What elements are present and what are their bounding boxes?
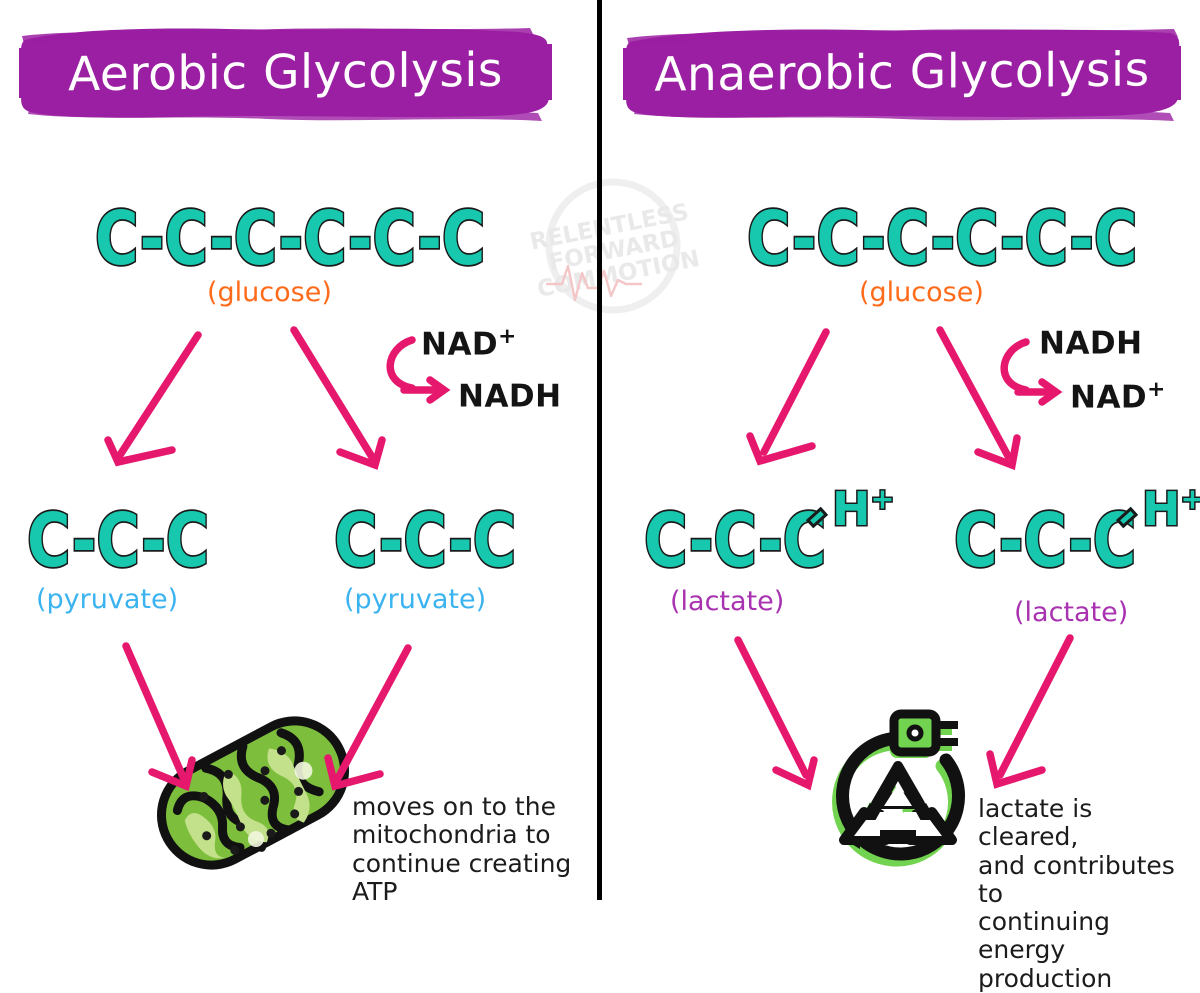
- cofactor-from-sup-aerobic: +: [498, 324, 517, 349]
- adduct-sup-1: +: [871, 483, 895, 516]
- cofactor-to-sup-anaerobic: +: [1147, 377, 1166, 402]
- molecule-lactate-2: C-C-C: [954, 498, 1136, 584]
- recycle-plug-icon: [808, 700, 988, 875]
- label-glucose-anaerobic: (glucose): [859, 277, 984, 308]
- mitochondria-icon: [148, 713, 358, 873]
- molecule-lactate-1: C-C-C: [644, 498, 826, 584]
- molecule-pyruvate-1: C-C-C: [27, 498, 209, 584]
- title-banner-anaerobic: Anaerobic Glycolysis: [622, 18, 1182, 126]
- cofactor-from-label-aerobic: NAD: [421, 326, 498, 362]
- cofactor-to-label-anaerobic: NAD: [1070, 379, 1147, 415]
- label-lactate-2: (lactate): [1014, 597, 1128, 628]
- molecule-glucose-anaerobic: C-C-C-C-C-C: [747, 196, 1137, 282]
- molecule-pyruvate-2: C-C-C: [334, 498, 516, 584]
- label-pyruvate-1: (pyruvate): [36, 584, 178, 615]
- molecule-glucose-aerobic: C-C-C-C-C-C: [95, 196, 485, 282]
- panel-divider: [597, 0, 602, 900]
- label-lactate-1: (lactate): [670, 586, 784, 617]
- cofactor-to-aerobic: NADH: [458, 376, 562, 414]
- cofactor-to-label-aerobic: NADH: [458, 378, 562, 414]
- cofactor-to-anaerobic: NAD+: [1070, 377, 1166, 415]
- panel-anaerobic: Anaerobic Glycolysis C-C-C-C-C-C (glucos…: [602, 0, 1200, 900]
- cofactor-from-aerobic: NAD+: [421, 324, 517, 362]
- caption-anaerobic: lactate is cleared, and contributes to c…: [978, 795, 1200, 993]
- title-text-anaerobic: Anaerobic Glycolysis: [622, 15, 1182, 129]
- title-text-aerobic: Aerobic Glycolysis: [18, 15, 553, 129]
- adduct-hplus-lactate-2: H+: [1142, 482, 1200, 536]
- adduct-h-1: H: [832, 482, 871, 536]
- cofactor-from-label-anaerobic: NADH: [1039, 325, 1143, 361]
- title-banner-aerobic: Aerobic Glycolysis: [18, 18, 553, 126]
- cofactor-from-anaerobic: NADH: [1039, 323, 1143, 361]
- label-glucose-aerobic: (glucose): [207, 277, 332, 308]
- label-pyruvate-2: (pyruvate): [344, 584, 486, 615]
- caption-aerobic: moves on to the mitochondria to continue…: [352, 793, 598, 906]
- adduct-sup-2: +: [1181, 483, 1200, 516]
- infographic-canvas: RELENTLESS FORWARD COMMOTION Aerobic Gly…: [0, 0, 1200, 900]
- panel-aerobic: Aerobic Glycolysis C-C-C-C-C-C (glucose)…: [0, 0, 598, 900]
- adduct-hplus-lactate-1: H+: [832, 482, 894, 536]
- adduct-h-2: H: [1142, 482, 1181, 536]
